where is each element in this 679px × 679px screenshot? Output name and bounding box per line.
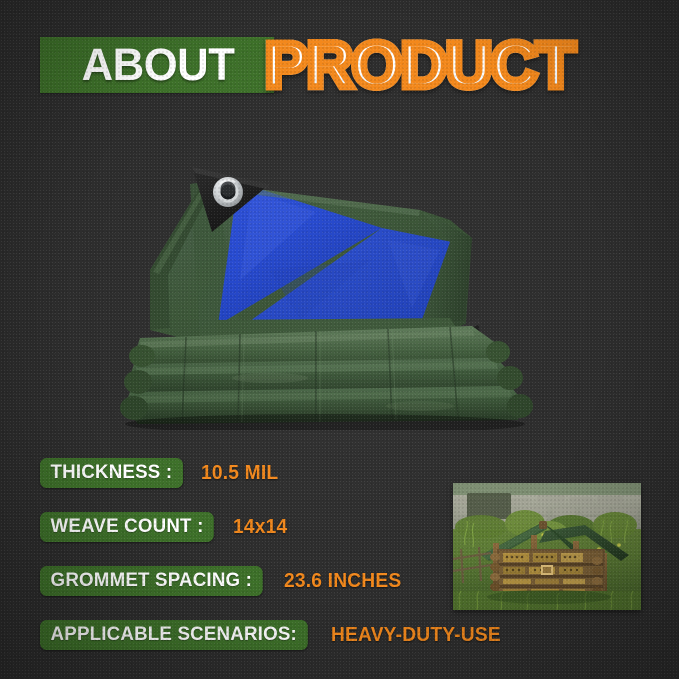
spec-label-weave-count: WEAVE COUNT : xyxy=(40,512,214,542)
infographic-canvas: ABOUT PRODUCT xyxy=(0,0,679,679)
header: ABOUT PRODUCT xyxy=(0,22,679,102)
spec-label-thickness: THICKNESS : xyxy=(40,458,183,488)
spec-label-grommet-spacing: GROMMET SPACING : xyxy=(40,566,263,596)
tarp-folded-stack xyxy=(120,326,533,424)
spec-row-applicable-scenarios: APPLICABLE SCENARIOS: HEAVY-DUTY-USE xyxy=(0,608,679,662)
spec-label-applicable-scenarios: APPLICABLE SCENARIOS: xyxy=(40,620,307,650)
spec-value-weave-count: 14x14 xyxy=(233,516,287,539)
product-tarp-image xyxy=(120,120,560,430)
tarp-top-sheet xyxy=(150,180,472,352)
header-title-about: ABOUT xyxy=(50,39,265,91)
header-title-product: PRODUCT xyxy=(265,28,574,102)
spec-value-thickness: 10.5 MIL xyxy=(201,462,278,485)
spec-value-grommet-spacing: 23.6 INCHES xyxy=(284,570,401,593)
scenario-photo-insect-hotel xyxy=(453,483,641,610)
spec-value-applicable-scenarios: HEAVY-DUTY-USE xyxy=(331,624,501,647)
